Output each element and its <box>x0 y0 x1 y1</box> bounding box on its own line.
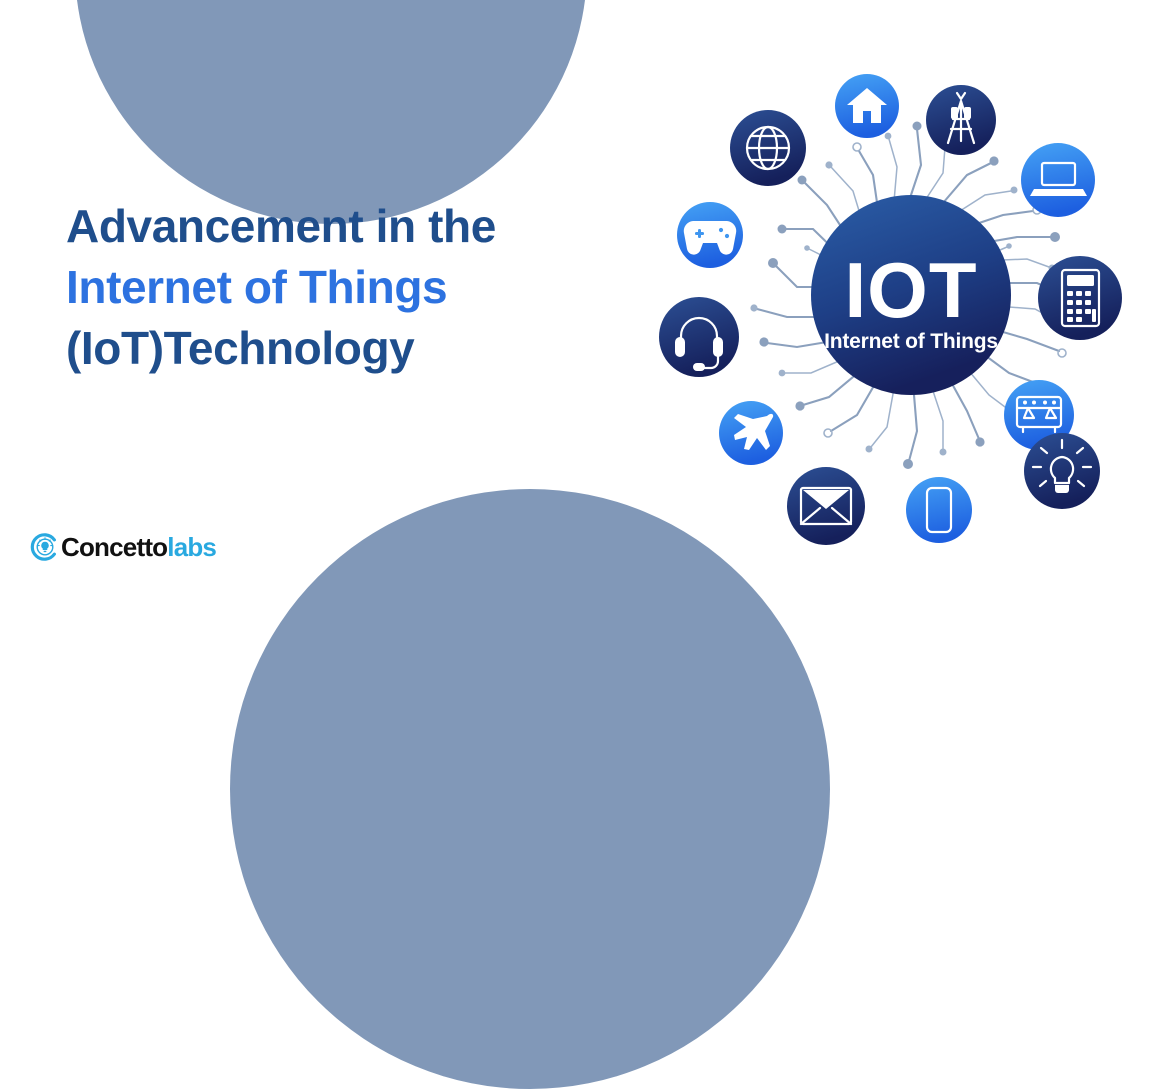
icon-bubble-calculator[interactable] <box>1038 256 1122 340</box>
logo-text-secondary: labs <box>167 534 216 560</box>
headline-line-3: (IoT)Technology <box>66 318 686 379</box>
icon-bubble-cell-tower[interactable] <box>926 85 996 155</box>
iot-hub-circle: IOT Internet of Things <box>811 195 1011 395</box>
decor-circle-bottom <box>230 489 830 1089</box>
decor-circle-top <box>75 0 587 224</box>
icon-bubble-home[interactable] <box>835 74 899 138</box>
brand-logo[interactable]: Concetto labs <box>30 532 216 562</box>
icon-bubble-smartphone[interactable] <box>906 477 972 543</box>
page-title: Advancement in the Internet of Things (I… <box>66 196 686 380</box>
icon-bubble-airplane[interactable] <box>719 401 783 465</box>
hub-title: IOT <box>845 246 978 334</box>
icon-bubble-laptop[interactable] <box>1021 143 1095 217</box>
headline-line-1: Advancement in the <box>66 196 686 257</box>
icon-bubble-lightbulb[interactable] <box>1024 433 1100 509</box>
hub-subtitle: Internet of Things <box>824 330 998 353</box>
icon-bubble-globe[interactable] <box>730 110 806 186</box>
headline-line-2: Internet of Things <box>66 257 686 318</box>
logo-text-primary: Concetto <box>61 534 167 560</box>
lightbulb-in-circle-icon <box>30 532 60 562</box>
icon-bubble-envelope[interactable] <box>787 467 865 545</box>
iot-hub-illustration: IOT Internet of Things <box>645 55 1165 555</box>
icon-bubble-game-controller[interactable] <box>677 202 743 268</box>
